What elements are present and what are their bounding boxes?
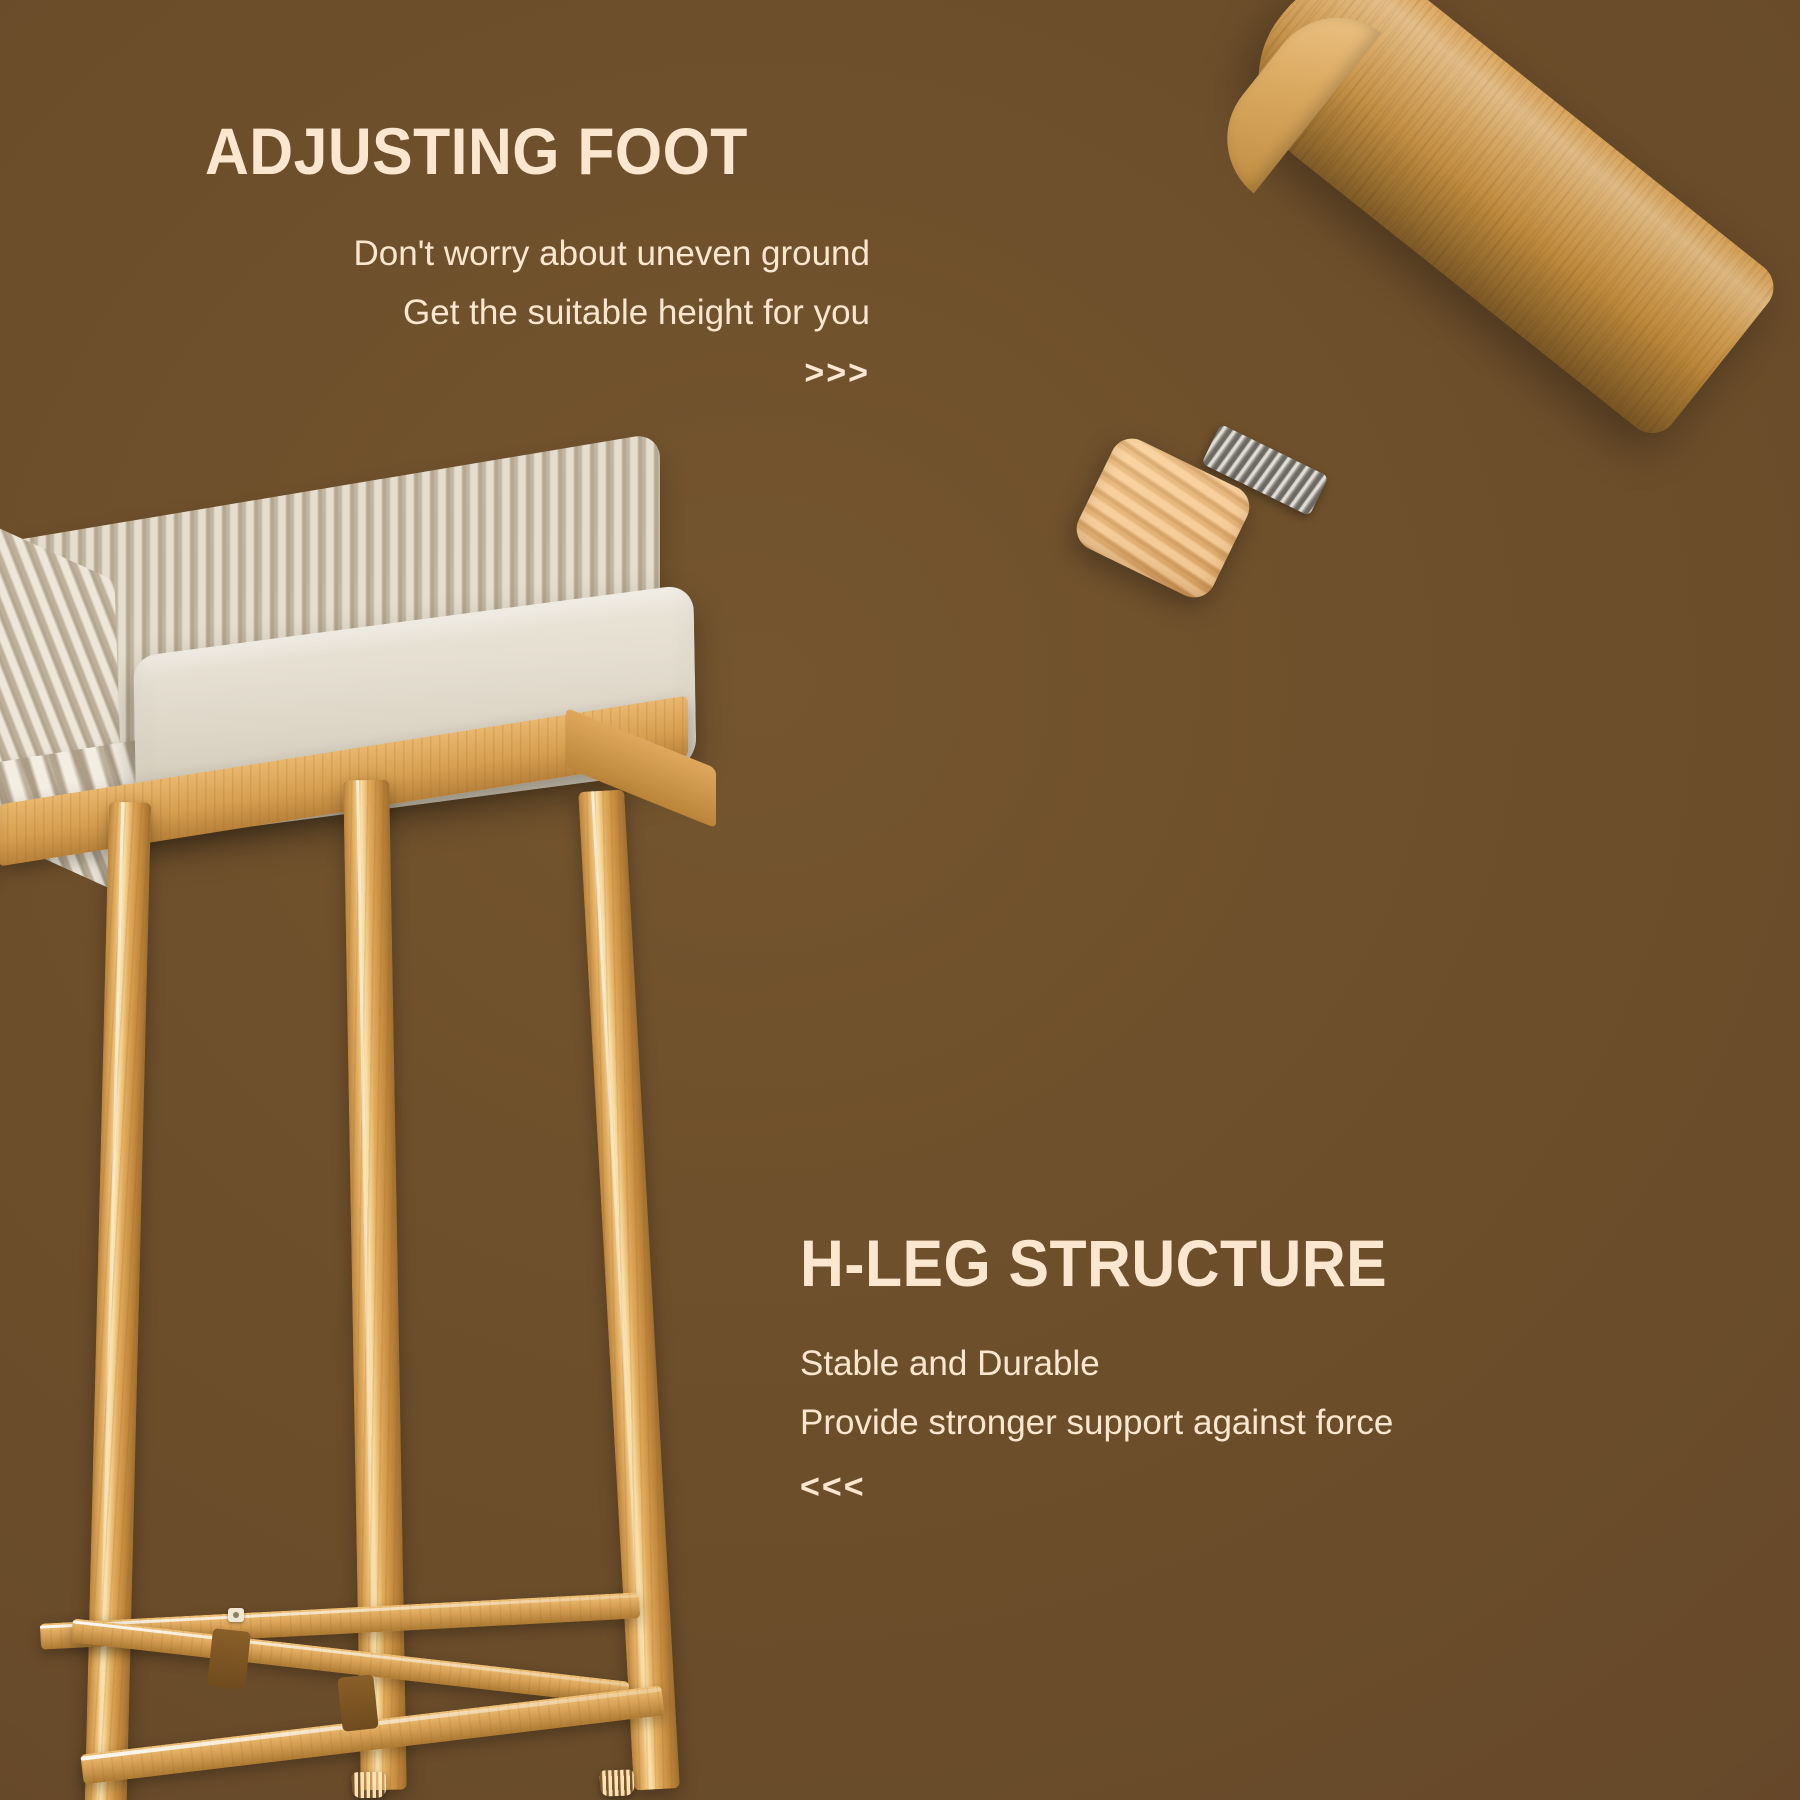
adjusting-foot-text-block: ADJUSTING FOOT Don't worry about uneven … bbox=[205, 118, 870, 393]
h-leg-structure-line-2: Provide stronger support against force bbox=[800, 1403, 1438, 1442]
adjusting-foot-heading: ADJUSTING FOOT bbox=[205, 118, 817, 184]
adjusting-foot-photo bbox=[1055, 0, 1800, 600]
h-leg-structure-line-1: Stable and Durable bbox=[800, 1344, 1438, 1383]
adjusting-foot-line-1: Don't worry about uneven ground bbox=[205, 234, 870, 273]
foot-cap-middle bbox=[352, 1772, 386, 1799]
foot-cap-front-right bbox=[600, 1769, 635, 1796]
backward-arrows-icon: <<< bbox=[800, 1468, 1438, 1507]
stretcher-joint-left bbox=[207, 1628, 251, 1690]
stool-leg-middle bbox=[343, 780, 407, 1791]
h-leg-structure-heading: H-LEG STRUCTURE bbox=[800, 1230, 1387, 1296]
h-leg-structure-text-block: H-LEG STRUCTURE Stable and Durable Provi… bbox=[800, 1230, 1438, 1507]
stool-leg-front-right bbox=[578, 789, 680, 1790]
stretcher-joint-right bbox=[337, 1674, 378, 1731]
stool-photo bbox=[0, 480, 730, 1800]
forward-arrows-icon: >>> bbox=[205, 354, 870, 393]
adjusting-foot-line-2: Get the suitable height for you bbox=[205, 293, 870, 332]
hardware-screw-label bbox=[228, 1608, 244, 1622]
marketing-image-canvas: ADJUSTING FOOT Don't worry about uneven … bbox=[0, 0, 1800, 1800]
